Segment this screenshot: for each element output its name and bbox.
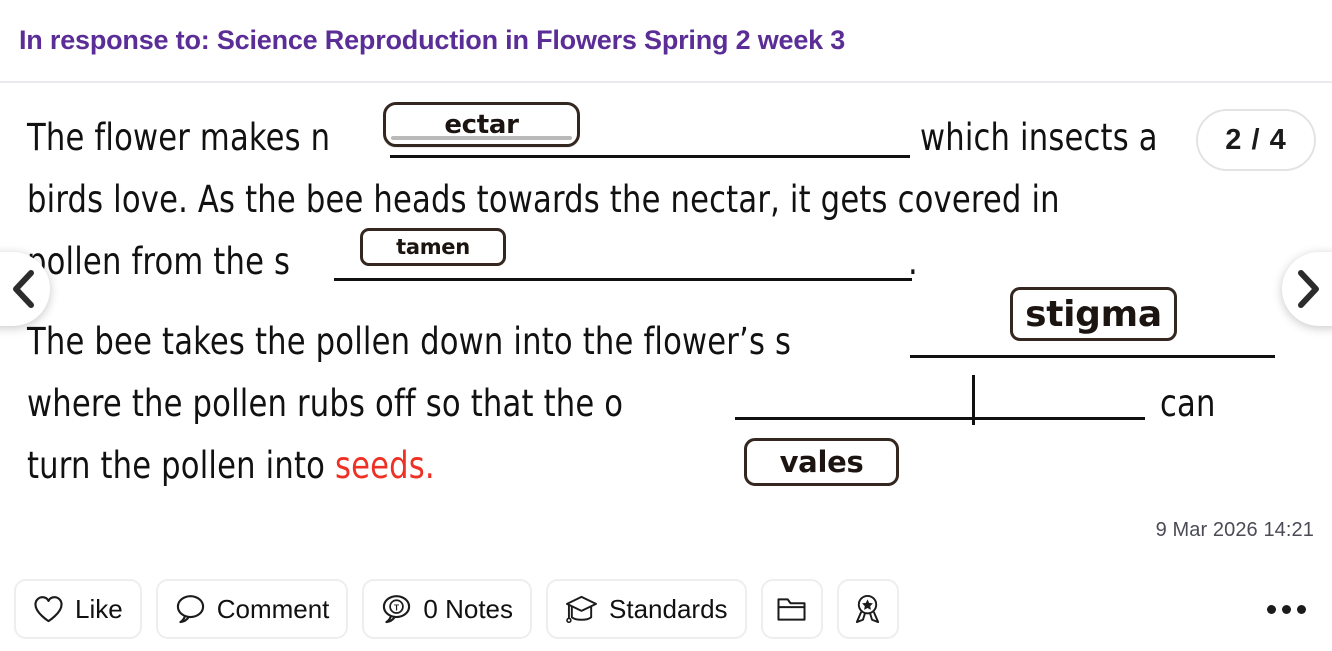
standards-button-label: Standards — [609, 594, 728, 625]
svg-text:T: T — [394, 603, 399, 613]
comment-button[interactable]: Comment — [156, 579, 349, 639]
notes-button-label: 0 Notes — [423, 594, 513, 625]
next-page-button[interactable] — [1282, 252, 1332, 326]
answer-box-vales[interactable]: vales — [744, 438, 899, 486]
answer-box-vales-label: vales — [780, 445, 864, 479]
standards-button[interactable]: Standards — [546, 579, 747, 639]
blank-rule-2 — [334, 278, 912, 281]
award-ribbon-icon — [852, 594, 883, 624]
more-options-button[interactable] — [1258, 581, 1314, 637]
folder-icon — [776, 596, 807, 623]
worksheet-canvas[interactable]: The flower makes n which insects a birds… — [0, 83, 1332, 503]
answer-box-stigma-label: stigma — [1025, 294, 1162, 335]
worksheet-text-line-1-tail: which insects a — [920, 116, 1158, 159]
chevron-left-icon — [10, 269, 36, 309]
like-button[interactable]: Like — [14, 579, 142, 639]
more-dot-2 — [1282, 605, 1291, 614]
worksheet-text-line-3: pollen from the s — [27, 240, 290, 283]
more-dot-1 — [1267, 605, 1276, 614]
worksheet-text-line-6-prefix: turn the pollen into — [27, 444, 335, 487]
notes-button[interactable]: T 0 Notes — [362, 579, 532, 639]
worksheet-text-line-4: The bee takes the pollen down into the f… — [27, 320, 791, 363]
answer-box-tamen[interactable]: tamen — [360, 228, 506, 266]
folder-button[interactable] — [761, 579, 823, 639]
heart-icon — [33, 595, 64, 624]
worksheet-text-line-2: birds love. As the bee heads towards the… — [27, 178, 1060, 221]
worksheet-text-line-5-tail: can — [1160, 382, 1216, 425]
worksheet-text-line-3-tail: . — [908, 240, 918, 283]
like-button-label: Like — [75, 594, 123, 625]
answer-box-tamen-label: tamen — [396, 235, 470, 259]
graduation-cap-icon — [565, 594, 598, 624]
page-title: In response to: Science Reproduction in … — [0, 25, 845, 56]
blank-rule-4 — [735, 417, 1145, 420]
post-detail-view: In response to: Science Reproduction in … — [0, 0, 1332, 651]
more-dot-3 — [1297, 605, 1306, 614]
worksheet-text-line-6: turn the pollen into seeds. — [27, 444, 435, 487]
award-button[interactable] — [837, 579, 899, 639]
text-caret — [972, 375, 975, 425]
chevron-right-icon — [1296, 269, 1322, 309]
text-note-bubble-icon: T — [381, 594, 412, 624]
post-header: In response to: Science Reproduction in … — [0, 0, 1332, 83]
comment-button-label: Comment — [217, 594, 330, 625]
blank-rule-1 — [390, 155, 910, 158]
blank-rule-3 — [910, 355, 1275, 358]
answer-box-stigma[interactable]: stigma — [1010, 287, 1177, 341]
action-bar: Like Comment T 0 Notes — [0, 567, 1332, 651]
page-counter-label: 2 / 4 — [1225, 124, 1286, 157]
answer-box-ectar[interactable]: ectar — [383, 102, 580, 147]
worksheet-answer-seeds: seeds. — [335, 444, 435, 487]
comment-bubble-icon — [175, 594, 206, 624]
worksheet-text-line-1: The flower makes n — [27, 116, 330, 159]
answer-box-ectar-label: ectar — [444, 110, 518, 140]
post-timestamp: 9 Mar 2026 14:21 — [1156, 519, 1314, 542]
worksheet-text-line-5: where the pollen rubs off so that the o — [27, 382, 623, 425]
page-counter-badge: 2 / 4 — [1196, 109, 1316, 171]
